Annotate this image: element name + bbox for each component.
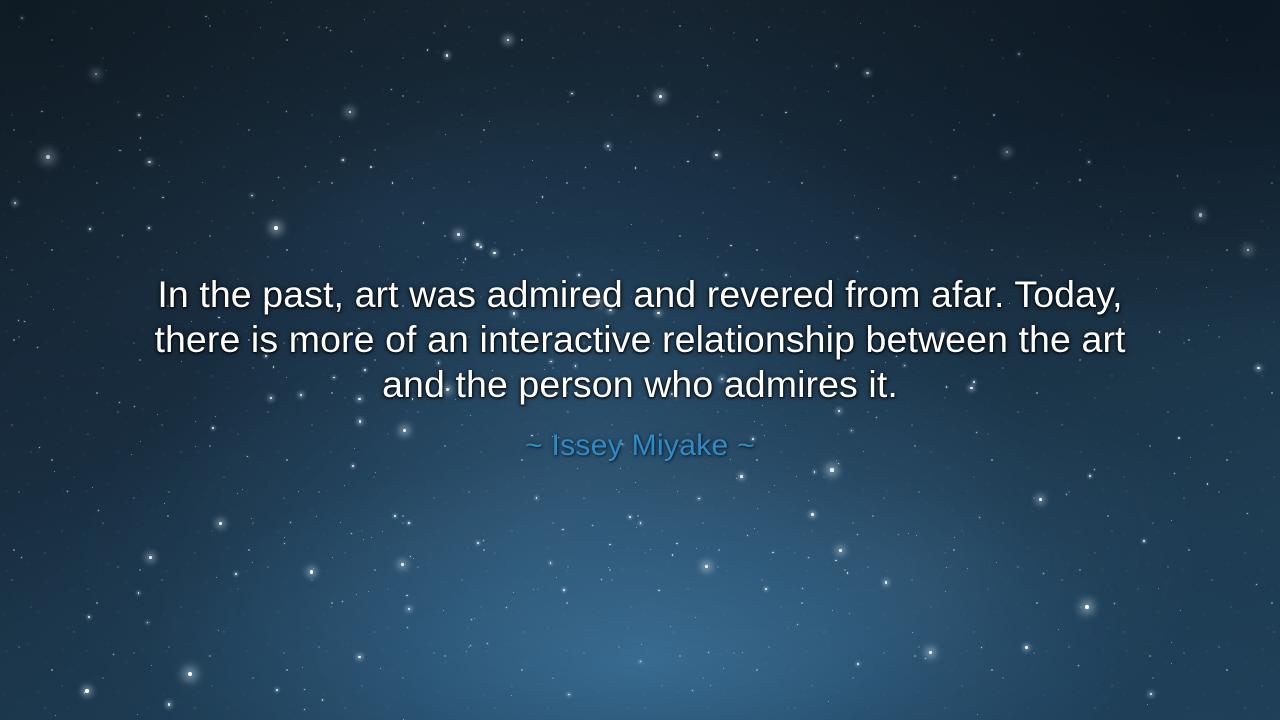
quote-attribution: ~ Issey Miyake ~ (56, 428, 1224, 464)
quote-line-2: there is more of an interactive relation… (154, 318, 1125, 360)
quote-slide: In the past, art was admired and revered… (0, 0, 1280, 720)
quote-block: In the past, art was admired and revered… (0, 272, 1280, 464)
quote-line-3: and the person who admires it. (382, 363, 898, 405)
quote-text: In the past, art was admired and revered… (110, 272, 1170, 407)
quote-line-1: In the past, art was admired and revered… (157, 273, 1122, 315)
